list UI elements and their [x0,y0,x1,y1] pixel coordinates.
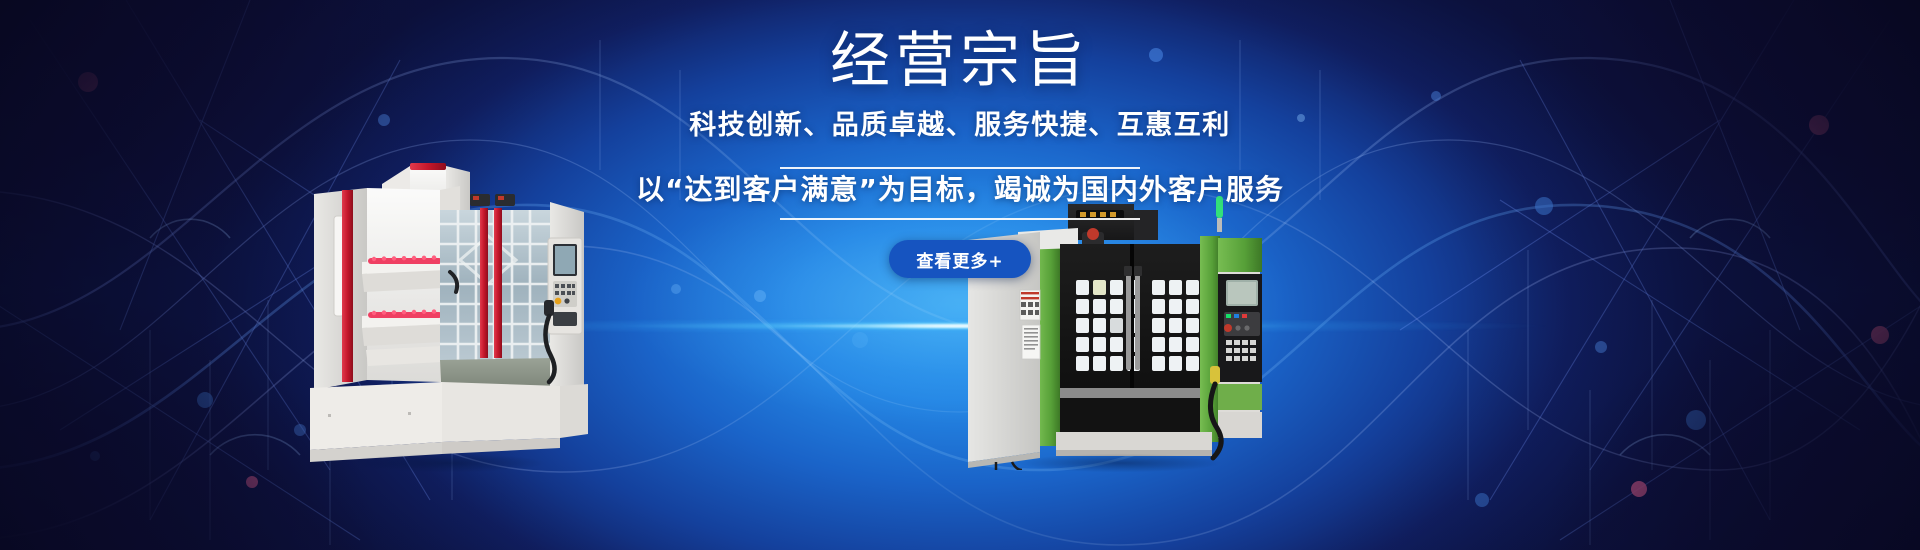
divider-bottom [780,218,1140,220]
divider-top [780,167,1140,169]
banner-content: 经营宗旨 科技创新、品质卓越、服务快捷、互惠互利 以“达到客户满意”为目标，竭诚… [0,0,1920,550]
page-title: 经营宗旨 [0,28,1920,95]
view-more-button[interactable]: 查看更多+ [889,240,1031,278]
banner-subtitle: 科技创新、品质卓越、服务快捷、互惠互利 [0,110,1920,142]
banner-tagline: 以“达到客户满意”为目标，竭诚为国内外客户服务 [0,173,1920,207]
promo-banner: 经营宗旨 科技创新、品质卓越、服务快捷、互惠互利 以“达到客户满意”为目标，竭诚… [0,0,1920,550]
